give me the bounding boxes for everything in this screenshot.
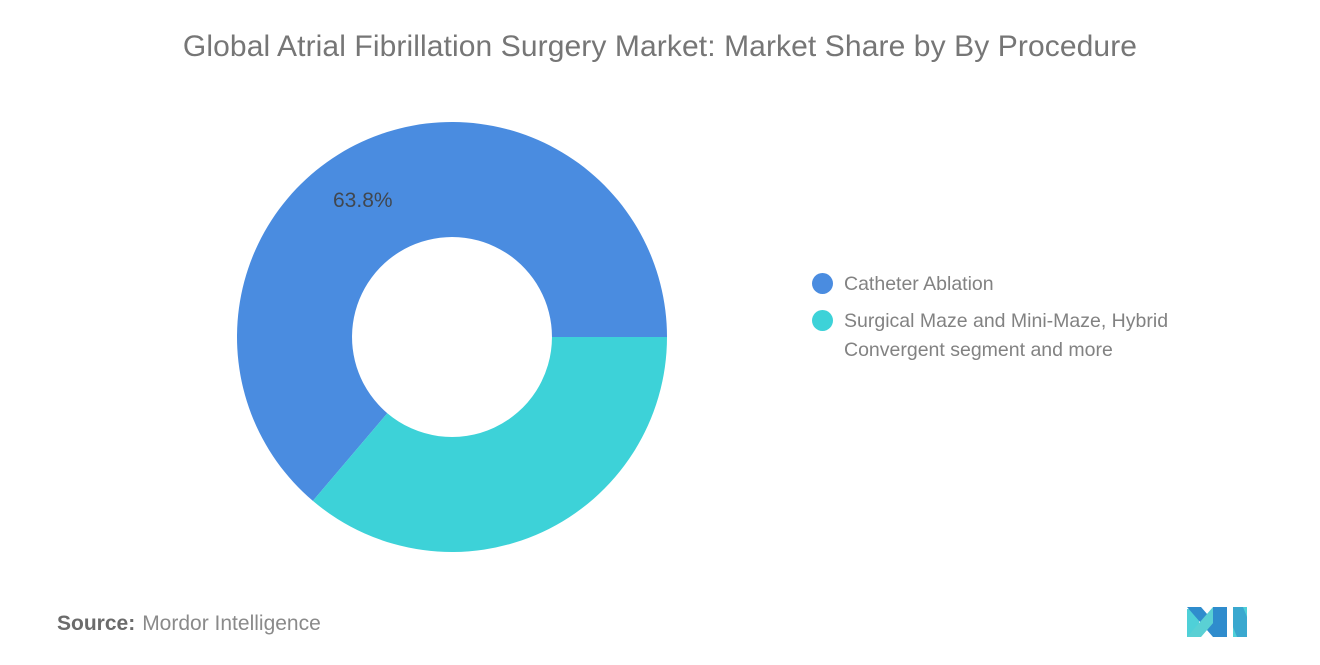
legend-color-dot-icon xyxy=(812,310,833,331)
chart-title: Global Atrial Fibrillation Surgery Marke… xyxy=(0,30,1320,64)
legend-item-surgical-maze[interactable]: Surgical Maze and Mini-Maze, Hybrid Conv… xyxy=(812,307,1242,365)
donut-slice-surgical-maze[interactable] xyxy=(313,337,667,552)
legend-color-dot-icon xyxy=(812,273,833,294)
source-line: Source:Mordor Intelligence xyxy=(57,612,321,636)
legend-item-label: Surgical Maze and Mini-Maze, Hybrid Conv… xyxy=(844,307,1219,365)
legend-item-label: Catheter Ablation xyxy=(844,270,994,299)
mordor-intelligence-logo xyxy=(1183,597,1255,641)
source-label: Source: xyxy=(57,612,135,635)
legend-item-catheter-ablation[interactable]: Catheter Ablation xyxy=(812,270,1242,299)
source-value: Mordor Intelligence xyxy=(142,612,321,635)
donut-chart-svg xyxy=(237,122,667,552)
chart-legend: Catheter Ablation Surgical Maze and Mini… xyxy=(812,270,1242,373)
donut-slice-label-catheter-ablation: 63.8% xyxy=(333,189,393,213)
donut-chart xyxy=(237,122,667,552)
